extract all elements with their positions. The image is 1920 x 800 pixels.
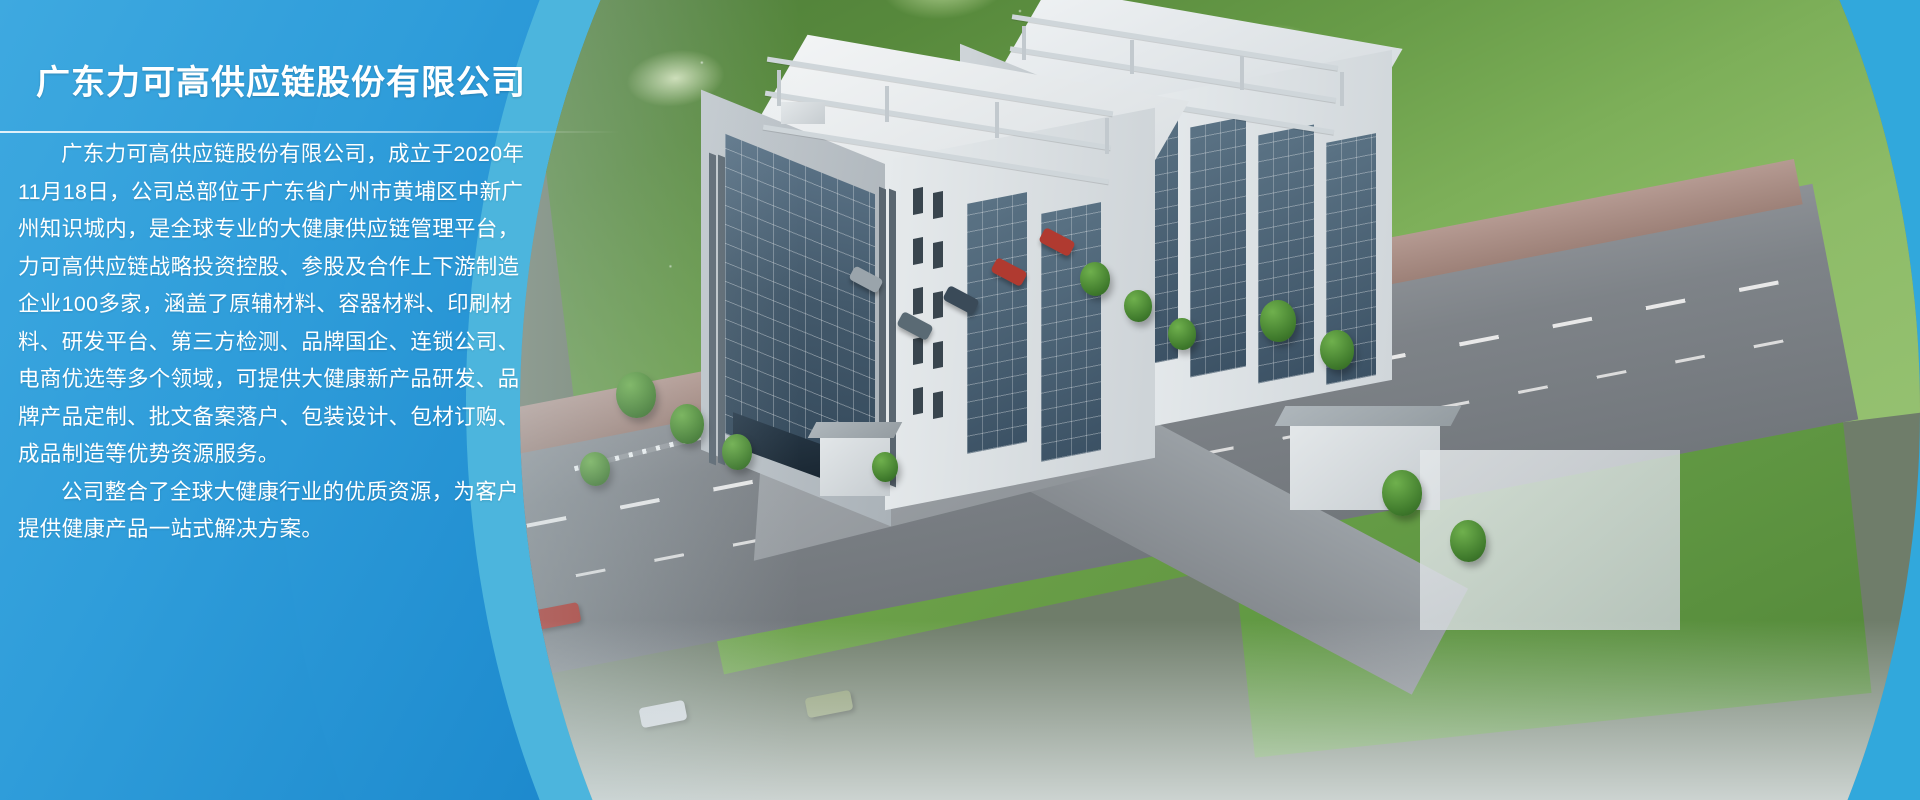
gatehouse-roof	[808, 422, 903, 438]
tree-6	[1168, 318, 1196, 350]
banner-root: 广东力可高供应链股份有限公司 广东力可高供应链股份有限公司，成立于2020年11…	[0, 0, 1920, 800]
tree-9	[872, 452, 898, 482]
tree-5	[1124, 290, 1152, 322]
slot-window-10	[933, 391, 943, 419]
tree-11	[1450, 520, 1486, 562]
slot-window-1	[913, 187, 923, 215]
tree-10	[1382, 470, 1422, 516]
office-building-photo	[520, 0, 1920, 800]
slot-window-8	[933, 291, 943, 319]
roof-post-b3	[1240, 56, 1244, 90]
building-rear-window-col-3	[1258, 125, 1314, 384]
roof-post-b4	[1340, 72, 1344, 106]
tree-8	[1320, 330, 1354, 370]
building-front-window-col-1	[967, 192, 1027, 454]
roof-post-b1	[1022, 26, 1026, 60]
slot-window-3	[913, 287, 923, 315]
intro-paragraph-1: 广东力可高供应链股份有限公司，成立于2020年11月18日，公司总部位于广东省广…	[18, 136, 538, 474]
photo-arc-mask	[520, 0, 1920, 800]
slot-window-2	[913, 237, 923, 265]
roof-post-a3	[995, 102, 999, 138]
page-title: 广东力可高供应链股份有限公司	[36, 55, 526, 104]
roof-post-a4	[1105, 118, 1109, 154]
tree-4	[1080, 262, 1110, 296]
slot-window-4	[913, 337, 923, 365]
slot-window-7	[933, 241, 943, 269]
roof-post-a2	[885, 86, 889, 122]
tree-7	[1260, 300, 1296, 342]
intro-paragraph-2: 公司整合了全球大健康行业的优质资源，为客户提供健康产品一站式解决方案。	[18, 474, 538, 549]
facade-fin-4	[889, 189, 896, 488]
slot-window-9	[933, 341, 943, 369]
text-panel: 广东力可高供应链股份有限公司 广东力可高供应链股份有限公司，成立于2020年11…	[0, 0, 620, 800]
company-intro: 广东力可高供应链股份有限公司，成立于2020年11月18日，公司总部位于广东省广…	[18, 136, 538, 549]
slot-window-6	[933, 191, 943, 219]
title-underline	[0, 131, 620, 133]
slot-window-5	[913, 387, 923, 415]
annex-roof	[1275, 406, 1462, 426]
